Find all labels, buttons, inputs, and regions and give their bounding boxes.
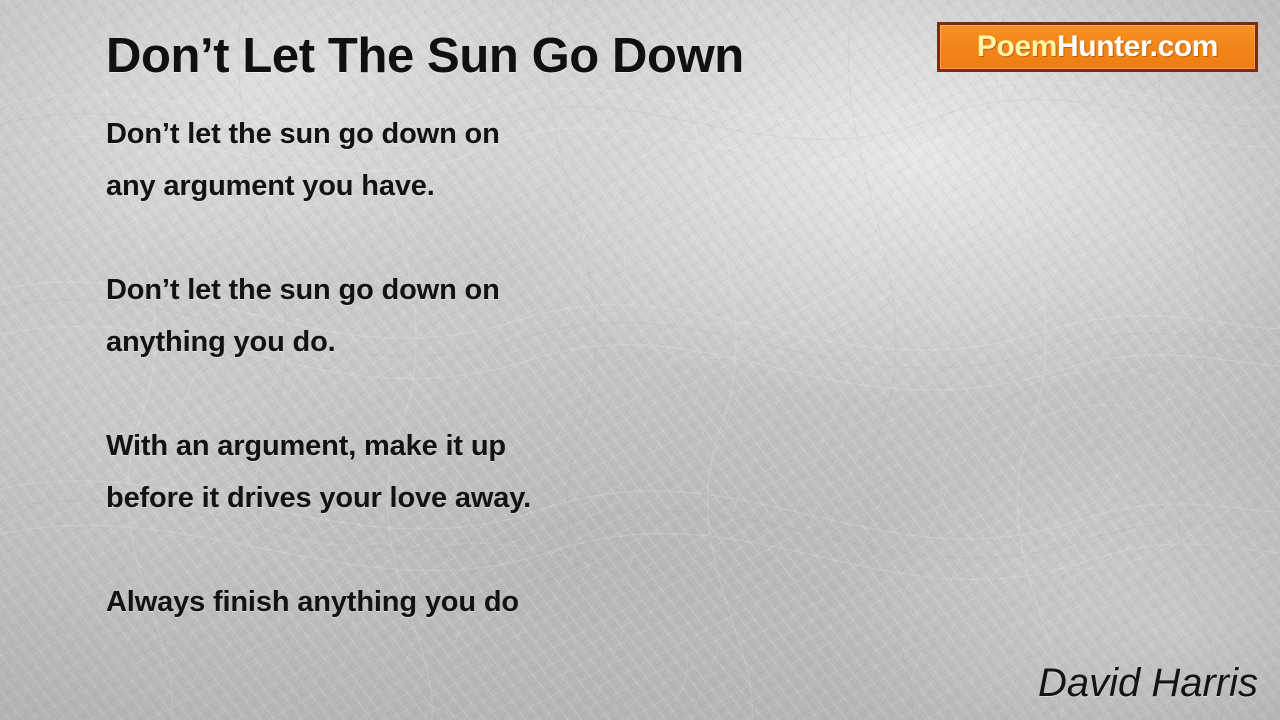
- poem-content: Don’t Let The Sun Go Down Don’t let the …: [0, 0, 1280, 720]
- poem-line: Don’t let the sun go down on: [106, 264, 866, 316]
- poem-line: any argument you have.: [106, 160, 866, 212]
- poem-title: Don’t Let The Sun Go Down: [106, 28, 744, 84]
- poem-author: David Harris: [1038, 661, 1258, 706]
- poem-stanza: Always finish anything you do: [106, 576, 866, 628]
- poem-line: Always finish anything you do: [106, 576, 866, 628]
- poem-line: anything you do.: [106, 316, 866, 368]
- poem-stanza: Don’t let the sun go down on any argumen…: [106, 108, 866, 212]
- poem-stanza: Don’t let the sun go down on anything yo…: [106, 264, 866, 368]
- logo-text-wrapper: PoemHunter.com: [977, 32, 1218, 62]
- poem-line: before it drives your love away.: [106, 472, 866, 524]
- poemhunter-logo[interactable]: PoemHunter.com: [937, 22, 1258, 72]
- poem-stanza: With an argument, make it up before it d…: [106, 420, 866, 524]
- poem-line: With an argument, make it up: [106, 420, 866, 472]
- poem-line: Don’t let the sun go down on: [106, 108, 866, 160]
- poem-image-canvas: Don’t Let The Sun Go Down Don’t let the …: [0, 0, 1280, 720]
- logo-text-poem: Poem: [977, 30, 1057, 63]
- poem-body: Don’t let the sun go down on any argumen…: [106, 108, 866, 628]
- logo-text-hunter: Hunter.com: [1057, 30, 1218, 63]
